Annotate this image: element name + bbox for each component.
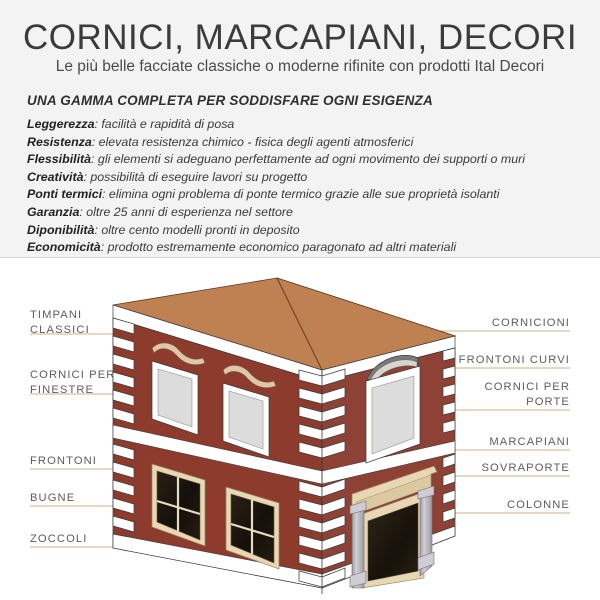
label-frontoni-curvi: FRONTONI CURVI	[350, 353, 570, 368]
label-zoccoli: ZOCCOLI	[30, 532, 87, 547]
feature-desc: : possibilità di eseguire lavori su prog…	[83, 170, 307, 184]
feature-item: Flessibilità: gli elementi si adeguano p…	[27, 151, 583, 169]
feature-desc: : facilità e rapidità di posa	[94, 117, 234, 131]
poster-root: CORNICI, MARCAPIANI, DECORI Le più belle…	[0, 0, 600, 600]
label-frontoni: FRONTONI	[30, 454, 97, 469]
building-illustration	[0, 258, 600, 600]
feature-term: Economicità	[27, 240, 101, 254]
feature-desc: : oltre 25 anni di esperienza nel settor…	[79, 205, 293, 219]
label-sovraporte: SOVRAPORTE	[370, 461, 570, 476]
feature-item: Resistenza: elevata resistenza chimico -…	[27, 134, 583, 152]
page-subtitle: Le più belle facciate classiche o modern…	[0, 58, 600, 76]
feature-term: Ponti termici	[27, 187, 102, 201]
feature-item: Ponti termici: elimina ogni problema di …	[27, 186, 583, 204]
label-cornicioni: CORNICIONI	[370, 316, 570, 331]
page-title: CORNICI, MARCAPIANI, DECORI	[0, 18, 600, 58]
feature-item: Diponibilità: oltre cento modelli pronti…	[27, 222, 583, 240]
label-timpani-classici: TIMPANI CLASSICI	[30, 308, 90, 338]
feature-term: Resistenza	[27, 135, 92, 149]
feature-term: Creatività	[27, 170, 83, 184]
label-cornici-per-porte: CORNICI PER PORTE	[370, 380, 570, 410]
label-bugne: BUGNE	[30, 491, 75, 506]
feature-desc: : prodotto estremamente economico parago…	[101, 240, 456, 254]
label-marcapiani: MARCAPIANI	[370, 435, 570, 450]
features-heading: UNA GAMMA COMPLETA PER SODDISFARE OGNI E…	[27, 93, 433, 108]
feature-desc: : elevata resistenza chimico - fisica de…	[92, 135, 414, 149]
feature-item: Garanzia: oltre 25 anni di esperienza ne…	[27, 204, 583, 222]
feature-term: Diponibilità	[27, 223, 94, 237]
feature-term: Garanzia	[27, 205, 79, 219]
label-colonne: COLONNE	[370, 498, 570, 513]
feature-item: Creatività: possibilità di eseguire lavo…	[27, 169, 583, 187]
feature-item: Economicità: prodotto estremamente econo…	[27, 239, 583, 257]
label-cornici-per-finestre: CORNICI PER FINESTRE	[30, 368, 115, 398]
feature-desc: : gli elementi si adeguano perfettamente…	[91, 152, 525, 166]
features-list: Leggerezza: facilità e rapidità di posa …	[27, 116, 583, 257]
building-diagram: TIMPANI CLASSICI CORNICI PER FINESTRE FR…	[0, 258, 600, 600]
feature-term: Leggerezza	[27, 117, 94, 131]
feature-desc: : oltre cento modelli pronti in deposito	[94, 223, 299, 237]
feature-desc: : elimina ogni problema di ponte termico…	[102, 187, 499, 201]
feature-item: Leggerezza: facilità e rapidità di posa	[27, 116, 583, 134]
feature-term: Flessibilità	[27, 152, 91, 166]
header-panel: CORNICI, MARCAPIANI, DECORI Le più belle…	[0, 0, 600, 258]
